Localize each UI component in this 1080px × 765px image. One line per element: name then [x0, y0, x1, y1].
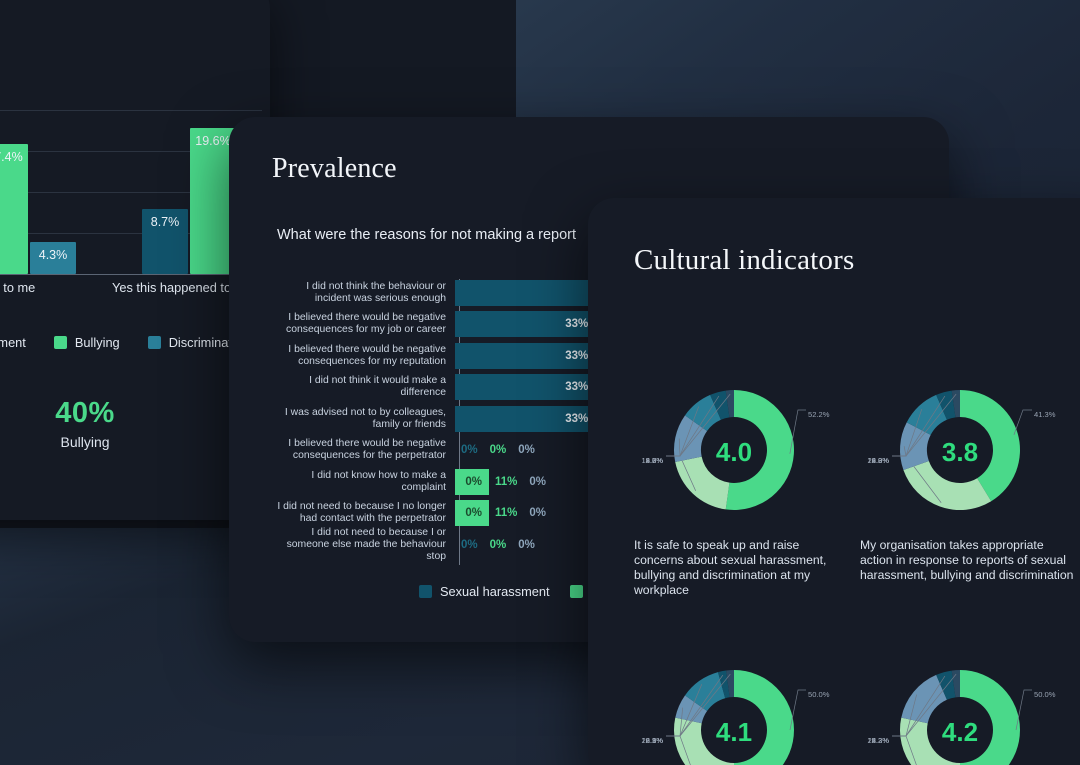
hbar-row-label: I did not think it would make a differen… [273, 375, 455, 399]
prevalence-question: What were the reasons for not making a r… [277, 227, 576, 243]
legend-swatch [570, 585, 583, 598]
hbar-zero-label: 0% [484, 539, 513, 551]
hbar-segment[interactable]: 33% [455, 406, 595, 432]
donut-slice-label: 2.1% [646, 736, 664, 745]
donut-slice-label: 50.0% [1034, 690, 1056, 699]
hbar-segment[interactable]: 33% [455, 374, 595, 400]
donut-slice-label: 2.2% [872, 736, 890, 745]
donut-cell: 50.0%28.3%6.5%10.9%2.2%2.1%4.1This is a … [634, 652, 884, 765]
legend-swatch [419, 585, 432, 598]
donut-cell: 52.2%19.6%13.0%8.7%4.3%2.2%4.0It is safe… [634, 372, 884, 598]
hbar-zero-label: 0% [512, 444, 541, 456]
hbar-zero-label: 0% [455, 444, 484, 456]
bar-category-label: Yes this happened to so [112, 280, 248, 295]
bar-group: 2.2%17.4%4.3% [0, 144, 76, 274]
donut-chart[interactable]: 52.2%19.6%13.0%8.7%4.3%2.2%4.0 [634, 372, 884, 532]
hbar-segment-label: 0% [465, 476, 482, 488]
donut-slice[interactable] [675, 457, 729, 510]
hbar-zero-label: 0% [455, 539, 484, 551]
donut-cell: 50.0%28.3%15.2%4.3%2.2%4.2People in this… [860, 652, 1080, 765]
hbar-row-label: I believed there would be negative conse… [273, 438, 455, 462]
screenshot-stage: d the following at work in the last 12 m… [0, 0, 1080, 765]
donut-chart[interactable]: 41.3%28.3%13.0%10.9%4.3%2.2%3.8 [860, 372, 1080, 532]
hbar-zero-label: 0% [523, 507, 552, 519]
kpi-label: Bullying [0, 434, 170, 450]
donut-chart[interactable]: 50.0%28.3%15.2%4.3%2.2%4.2 [860, 652, 1080, 765]
kpi-bullying: 40% Bullying [0, 397, 170, 450]
legend-item[interactable]: harassment [0, 335, 26, 350]
hbar-row-label: I did not know how to make a complaint [273, 470, 455, 494]
cultural-indicators-card: Cultural indicators 52.2%19.6%13.0%8.7%4… [588, 198, 1080, 765]
donut-slice-label: 2.2% [872, 456, 890, 465]
hbar-zero-label: 0% [484, 444, 513, 456]
bar[interactable]: 17.4% [0, 144, 28, 274]
hbar-segment-label: 33% [565, 413, 588, 425]
hbar-row-label: I believed there would be negative conse… [273, 312, 455, 336]
hbar-row-label: I did not need to because I or someone e… [273, 527, 455, 563]
legend-item[interactable]: Bullying [54, 335, 120, 350]
bar-chart-groups: 2.2%17.4%4.3%8.7%19.6%8.7% [0, 110, 262, 274]
hbar-segment[interactable]: 0% [455, 469, 489, 495]
prevalence-title: Prevalence [272, 153, 397, 185]
bar[interactable]: 8.7% [142, 209, 188, 274]
donut-slice[interactable] [903, 461, 991, 510]
hbar-row-label: I did not think the behaviour or inciden… [273, 281, 455, 305]
donut-cell: 41.3%28.3%13.0%10.9%4.3%2.2%3.8My organi… [860, 372, 1080, 583]
bar[interactable]: 4.3% [30, 242, 76, 274]
hbar-row-label: I did not need to because I no longer ha… [273, 501, 455, 525]
hbar-zero-label: 11% [489, 507, 523, 519]
hbar-row-label: I was advised not to by colleagues, fami… [273, 407, 455, 431]
bar-value-label: 4.3% [30, 248, 76, 262]
hbar-segment-label: 0% [465, 507, 482, 519]
back-card-bar-chart: 2.2%17.4%4.3%8.7%19.6%8.7% [0, 110, 262, 275]
hbar-zero-label: 0% [512, 539, 541, 551]
donut-slice[interactable] [734, 670, 794, 765]
donut-slice-label: 52.2% [808, 410, 830, 419]
hbar-segment-label: 33% [565, 318, 588, 330]
hbar-row-label: I believed there would be negative conse… [273, 344, 455, 368]
donut-slice[interactable] [726, 390, 794, 510]
legend-label: Bullying [75, 335, 120, 350]
bar-chart-legend: harassmentBullyingDiscriminat [0, 335, 252, 350]
hbar-segment[interactable]: 0% [455, 500, 489, 526]
bar-value-label: 17.4% [0, 150, 28, 164]
bar-value-label: 8.7% [142, 215, 188, 229]
bar-category-label: is happened to me [0, 280, 35, 295]
legend-item[interactable]: Sexual harassment [419, 584, 550, 599]
donut-slice[interactable] [674, 718, 734, 765]
legend-label: harassment [0, 335, 26, 350]
legend-label: Discriminat [169, 335, 232, 350]
donut-slice-label: 50.0% [808, 690, 830, 699]
legend-item[interactable]: Discriminat [148, 335, 232, 350]
hbar-segment-label: 33% [565, 350, 588, 362]
donut-slice-label: 2.2% [646, 456, 664, 465]
bar-chart-axis [0, 274, 262, 275]
donut-slice[interactable] [960, 670, 1020, 765]
hbar-segment[interactable]: 33% [455, 343, 595, 369]
donut-chart[interactable]: 50.0%28.3%6.5%10.9%2.2%2.1%4.1 [634, 652, 884, 765]
hbar-segment[interactable]: 33% [455, 311, 595, 337]
legend-swatch [54, 336, 67, 349]
hbar-zero-label: 0% [523, 476, 552, 488]
hbar-zero-label: 11% [489, 476, 523, 488]
legend-swatch [148, 336, 161, 349]
hbar-segment-label: 33% [565, 381, 588, 393]
donut-caption: It is safe to speak up and raise concern… [634, 538, 852, 598]
legend-label: Sexual harassment [440, 584, 550, 599]
donut-caption: My organisation takes appropriate action… [860, 538, 1078, 583]
donut-slice-label: 41.3% [1034, 410, 1056, 419]
cultural-title: Cultural indicators [634, 244, 854, 277]
kpi-value: 40% [0, 397, 170, 430]
